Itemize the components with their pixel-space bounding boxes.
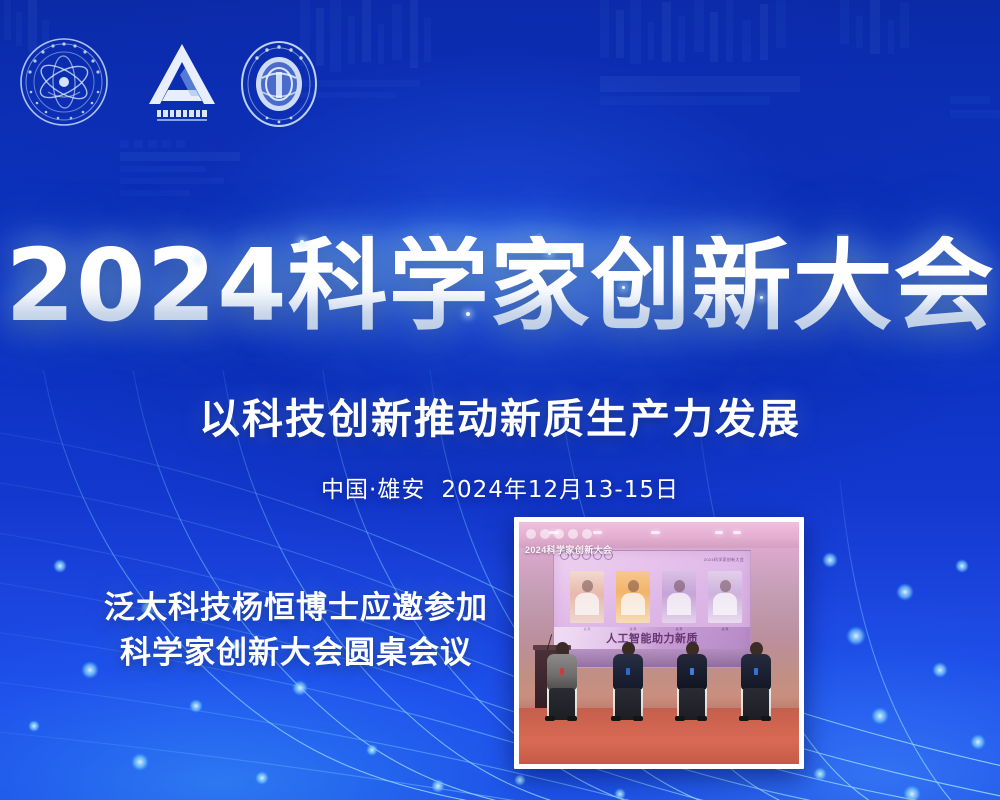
panelist bbox=[671, 642, 713, 720]
portrait-head bbox=[720, 580, 731, 592]
sparkle-dot bbox=[300, 240, 304, 244]
screen-speaker-portrait: 嘉 宾 bbox=[708, 571, 742, 623]
triangle-a-logo bbox=[144, 38, 220, 124]
panelist bbox=[735, 642, 777, 720]
oval-institute-logo bbox=[236, 38, 322, 130]
photo-watermark-text: 2024科学家创新大会 bbox=[525, 543, 612, 556]
portrait-head bbox=[674, 580, 685, 592]
poster-canvas: 2024科学家创新大会 2024科学家创新大会 以科技创新推动新质生产力发展 中… bbox=[0, 0, 1000, 800]
portrait-body bbox=[621, 593, 645, 615]
screen-speaker-portrait: 嘉 宾 bbox=[616, 571, 650, 623]
portrait-head bbox=[582, 580, 593, 592]
ceiling-light bbox=[733, 531, 741, 534]
screen-speaker-portrait: 嘉 宾 bbox=[662, 571, 696, 623]
portrait-body bbox=[575, 593, 599, 615]
sparkle-dot bbox=[760, 296, 763, 299]
panelist-badge bbox=[754, 668, 758, 675]
panelist-shoe bbox=[545, 716, 555, 721]
caption-line-2: 科学家创新大会圆桌会议 bbox=[86, 631, 506, 676]
sparkle-dot bbox=[622, 286, 625, 289]
screen-footer-strip bbox=[554, 649, 750, 667]
portrait-body bbox=[667, 593, 691, 615]
photo-watermark-icons bbox=[526, 529, 596, 540]
caption-line-1: 泛太科技杨恒博士应邀参加 bbox=[86, 586, 506, 631]
page-title: 2024科学家创新大会 bbox=[0, 236, 1000, 336]
screen-speaker-portrait: 嘉 宾 bbox=[570, 571, 604, 623]
panelist-badge bbox=[690, 668, 694, 675]
portrait-head bbox=[628, 580, 639, 592]
event-photo: 2024科学家创新大会 嘉 宾 嘉 宾 嘉 宾 bbox=[519, 522, 799, 764]
event-caption: 泛太科技杨恒博士应邀参加 科学家创新大会圆桌会议 bbox=[86, 586, 506, 677]
panelist-shoe bbox=[739, 716, 749, 721]
ceiling-light bbox=[651, 531, 660, 534]
ceiling-light bbox=[715, 531, 723, 534]
panelist-shoe bbox=[761, 716, 771, 721]
sparkle-dot bbox=[196, 258, 199, 261]
screen-header-text: 2024科学家创新大会 bbox=[704, 557, 744, 563]
panelist bbox=[607, 642, 649, 720]
panelist-badge bbox=[560, 668, 564, 675]
screen-banner: 人工智能助力新质 bbox=[554, 627, 750, 649]
panelist-badge bbox=[626, 668, 630, 675]
panelist-shoe bbox=[675, 716, 685, 721]
network-mesh-graphic bbox=[0, 370, 1000, 800]
panelist bbox=[541, 642, 583, 720]
event-photo-frame: 2024科学家创新大会 嘉 宾 嘉 宾 嘉 宾 bbox=[514, 517, 804, 769]
portrait-body bbox=[713, 593, 737, 615]
sparkle-dot bbox=[548, 252, 551, 255]
cast-emblem-logo bbox=[18, 36, 110, 128]
panelist-shoe bbox=[697, 716, 707, 721]
panelist-shoe bbox=[567, 716, 577, 721]
sparkle-dot bbox=[466, 312, 470, 316]
panelist-shoe bbox=[633, 716, 643, 721]
panelist-shoe bbox=[611, 716, 621, 721]
organizer-logos bbox=[14, 28, 334, 132]
